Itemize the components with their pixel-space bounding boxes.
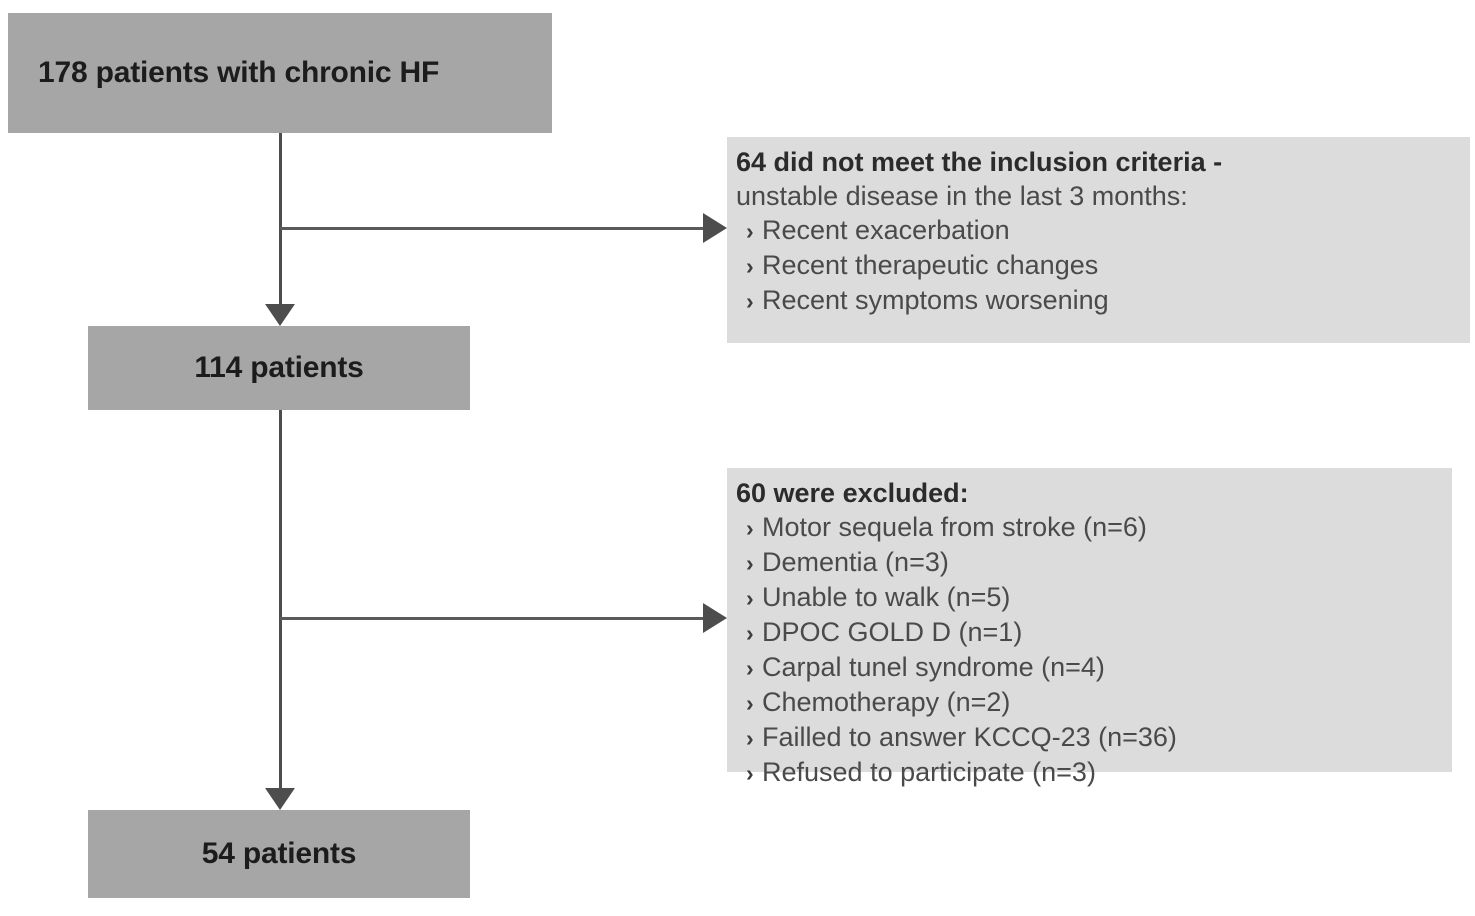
list-item: › Dementia (n=3) [736,545,1442,580]
list-item: › Recent exacerbation [736,213,1460,248]
list-item-label: Recent exacerbation [762,213,1010,247]
list-item: › Carpal tunel syndrome (n=4) [736,650,1442,685]
arrowhead-down-to-included [265,788,295,810]
list-item: › Recent therapeutic changes [736,248,1460,283]
chevron-right-icon: › [736,511,762,545]
list-item-label: Carpal tunel syndrome (n=4) [762,650,1105,684]
panel-excluded-patients-list: › Motor sequela from stroke (n=6) › Deme… [736,510,1442,790]
connector-line-enrolled-to-screened [279,133,282,308]
chevron-right-icon: › [736,686,762,720]
list-item-label: Recent therapeutic changes [762,248,1098,282]
panel-excluded-patients: 60 were excluded: › Motor sequela from s… [727,468,1452,772]
list-item-label: Failled to answer KCCQ-23 (n=36) [762,720,1177,754]
list-item-label: Motor sequela from stroke (n=6) [762,510,1147,544]
connector-line-to-inclusion-panel [280,227,705,230]
node-enrolled-patients: 178 patients with chronic HF [8,13,552,133]
node-enrolled-patients-label: 178 patients with chronic HF [38,56,439,90]
node-screened-patients: 114 patients [88,326,470,410]
list-item: › Unable to walk (n=5) [736,580,1442,615]
flow-diagram-canvas: 178 patients with chronic HF 114 patient… [0,0,1475,916]
arrowhead-down-to-screened [265,304,295,326]
list-item-label: Unable to walk (n=5) [762,580,1010,614]
node-screened-patients-label: 114 patients [194,351,363,385]
list-item: › Refused to participate (n=3) [736,755,1442,790]
panel-inclusion-criteria-subheading: unstable disease in the last 3 months: [736,179,1460,213]
panel-inclusion-criteria-heading: 64 did not meet the inclusion criteria - [736,145,1460,179]
chevron-right-icon: › [736,756,762,790]
list-item-label: DPOC GOLD D (n=1) [762,615,1022,649]
connector-line-screened-to-included [279,410,282,790]
list-item: › Recent symptoms worsening [736,283,1460,318]
chevron-right-icon: › [736,546,762,580]
chevron-right-icon: › [736,214,762,248]
chevron-right-icon: › [736,721,762,755]
list-item-label: Recent symptoms worsening [762,283,1109,317]
arrowhead-right-to-inclusion-panel [703,213,727,243]
arrowhead-right-to-excluded-panel [703,603,727,633]
chevron-right-icon: › [736,616,762,650]
list-item-label: Chemotherapy (n=2) [762,685,1010,719]
panel-excluded-patients-heading: 60 were excluded: [736,476,1442,510]
node-included-patients-label: 54 patients [202,837,357,871]
list-item: › DPOC GOLD D (n=1) [736,615,1442,650]
chevron-right-icon: › [736,581,762,615]
connector-line-to-excluded-panel [280,617,705,620]
list-item: › Motor sequela from stroke (n=6) [736,510,1442,545]
list-item-label: Refused to participate (n=3) [762,755,1096,789]
panel-inclusion-criteria-list: › Recent exacerbation › Recent therapeut… [736,213,1460,318]
list-item: › Failled to answer KCCQ-23 (n=36) [736,720,1442,755]
chevron-right-icon: › [736,249,762,283]
panel-inclusion-criteria: 64 did not meet the inclusion criteria -… [727,137,1470,343]
list-item: › Chemotherapy (n=2) [736,685,1442,720]
chevron-right-icon: › [736,284,762,318]
chevron-right-icon: › [736,651,762,685]
list-item-label: Dementia (n=3) [762,545,949,579]
node-included-patients: 54 patients [88,810,470,898]
